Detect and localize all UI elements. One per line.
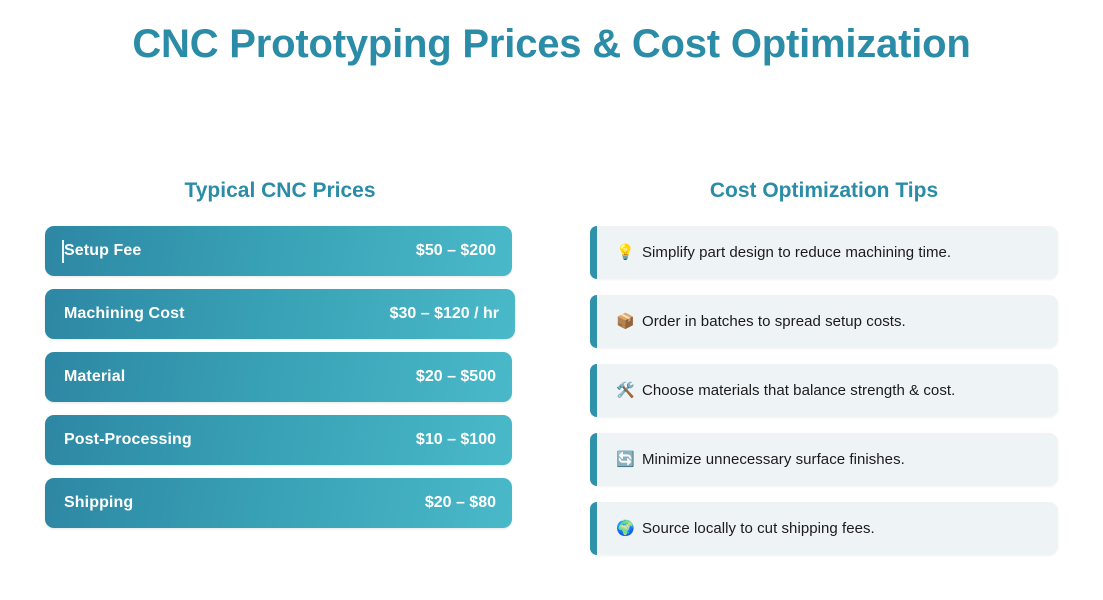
lightbulb-icon: 💡 — [616, 245, 633, 260]
price-row-value: $20 – $80 — [425, 494, 496, 512]
tip-card-simplify-design[interactable]: 💡 Simplify part design to reduce machini… — [590, 226, 1058, 279]
price-row-value: $30 – $120 / hr — [390, 305, 499, 323]
refresh-icon: 🔄 — [616, 452, 633, 467]
tip-card-list: 💡 Simplify part design to reduce machini… — [590, 226, 1058, 555]
price-row-shipping[interactable]: Shipping $20 – $80 — [45, 478, 512, 528]
typical-prices-heading: Typical CNC Prices — [45, 178, 515, 204]
cost-optimization-heading: Cost Optimization Tips — [590, 178, 1058, 204]
typical-prices-column: Typical CNC Prices Setup Fee $50 – $200 … — [45, 178, 515, 541]
price-row-value: $10 – $100 — [416, 431, 496, 449]
price-row-setup-fee[interactable]: Setup Fee $50 – $200 — [45, 226, 512, 276]
price-row-value: $20 – $500 — [416, 368, 496, 386]
globe-icon: 🌍 — [616, 521, 633, 536]
tip-text: Choose materials that balance strength &… — [642, 382, 955, 399]
price-row-machining-cost[interactable]: Machining Cost $30 – $120 / hr — [45, 289, 515, 339]
price-row-label: Post-Processing — [64, 431, 192, 449]
tools-icon: 🛠️ — [616, 383, 633, 398]
tip-text: Simplify part design to reduce machining… — [642, 244, 951, 261]
price-row-label: Shipping — [64, 494, 133, 512]
tip-text: Minimize unnecessary surface finishes. — [642, 451, 905, 468]
price-row-value: $50 – $200 — [416, 242, 496, 260]
tip-card-source-locally[interactable]: 🌍 Source locally to cut shipping fees. — [590, 502, 1058, 555]
accent-bar — [590, 364, 597, 417]
price-row-label: Setup Fee — [64, 242, 141, 260]
price-row-label: Material — [64, 368, 125, 386]
infographic-page: CNC Prototyping Prices & Cost Optimizati… — [0, 0, 1103, 600]
tip-text: Source locally to cut shipping fees. — [642, 520, 875, 537]
price-row-label: Machining Cost — [64, 305, 185, 323]
accent-bar — [590, 226, 597, 279]
accent-bar — [590, 295, 597, 348]
price-row-post-processing[interactable]: Post-Processing $10 – $100 — [45, 415, 512, 465]
tip-card-order-batches[interactable]: 📦 Order in batches to spread setup costs… — [590, 295, 1058, 348]
tip-text: Order in batches to spread setup costs. — [642, 313, 906, 330]
accent-bar — [590, 433, 597, 486]
price-row-material[interactable]: Material $20 – $500 — [45, 352, 512, 402]
page-title: CNC Prototyping Prices & Cost Optimizati… — [0, 22, 1103, 67]
price-bar-list: Setup Fee $50 – $200 Machining Cost $30 … — [45, 226, 515, 528]
text-cursor — [62, 240, 64, 263]
cost-optimization-column: Cost Optimization Tips 💡 Simplify part d… — [590, 178, 1058, 571]
tip-card-choose-materials[interactable]: 🛠️ Choose materials that balance strengt… — [590, 364, 1058, 417]
package-icon: 📦 — [616, 314, 633, 329]
accent-bar — [590, 502, 597, 555]
tip-card-minimize-finishes[interactable]: 🔄 Minimize unnecessary surface finishes. — [590, 433, 1058, 486]
